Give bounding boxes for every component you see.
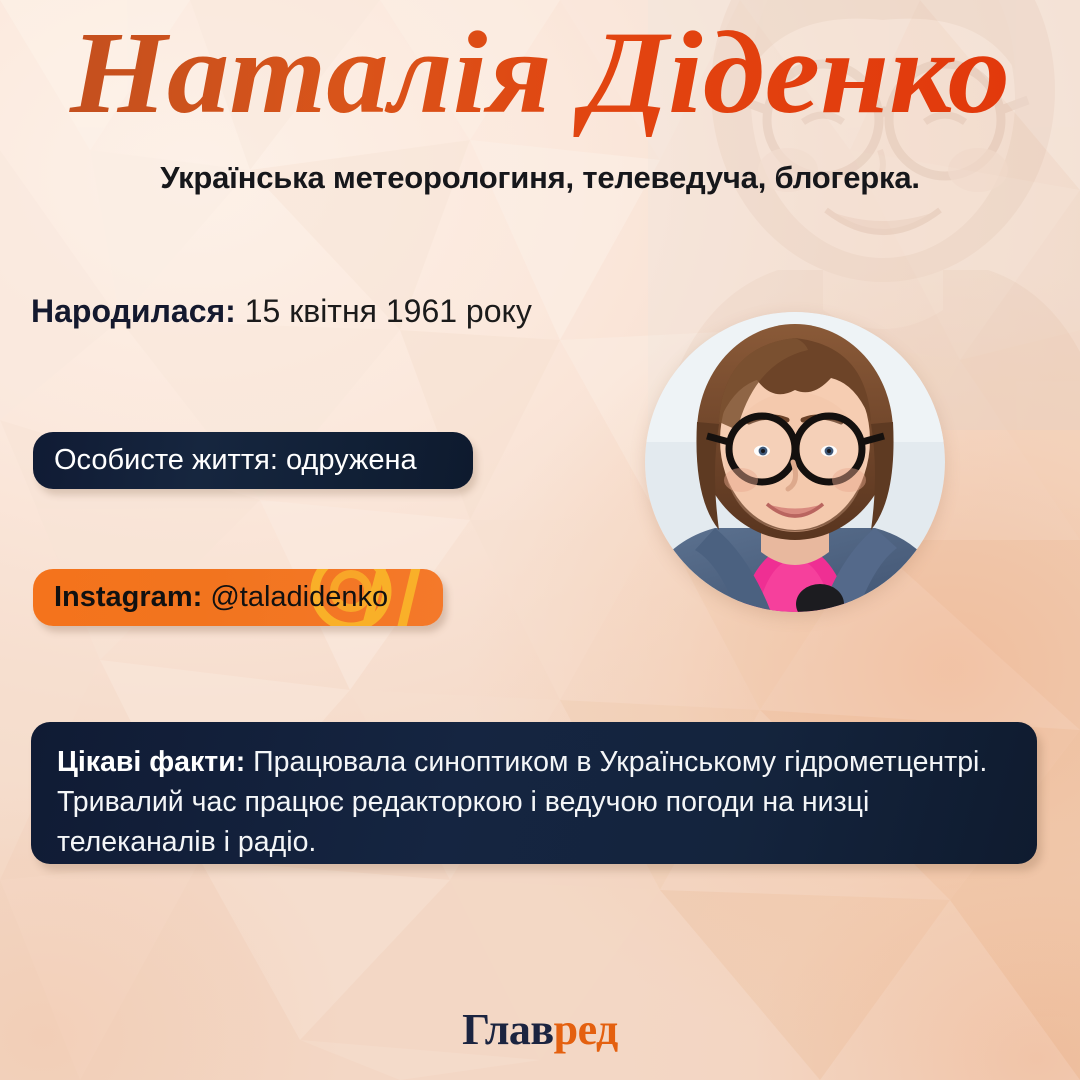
personal-life-badge: Особисте життя: одружена [33,432,473,489]
instagram-text: Instagram: @taladidenko [54,581,388,614]
avatar [645,312,945,612]
portrait-photo-icon [645,312,945,612]
page-title: Наталія Діденко [0,12,1080,142]
interesting-facts-block: Цікаві факти: Працювала синоптиком в Укр… [31,722,1037,864]
subtitle: Українська метеорологиня, телеведуча, бл… [0,160,1080,196]
instagram-badge[interactable]: Instagram: @taladidenko [33,569,443,626]
logo-part-dark: Глав [462,1005,553,1054]
title-text: Наталія Діденко [69,12,1010,138]
infographic-card: Наталія Діденко Українська метеорологиня… [0,0,1080,1080]
birth-date-line: Народилася: 15 квітня 1961 року [31,293,532,330]
personal-life-text: Особисте життя: одружена [54,444,417,477]
facts-label: Цікаві факти: [57,746,245,778]
birth-date-label: Народилася: [31,293,236,329]
birth-date-value: 15 квітня 1961 року [245,293,532,329]
instagram-label: Instagram: [54,581,202,613]
glavred-logo[interactable]: Главред [0,1004,1080,1055]
title-artwork: Наталія Діденко [0,12,1080,142]
logo-part-orange: ред [554,1005,618,1054]
instagram-handle: @taladidenko [210,581,388,613]
